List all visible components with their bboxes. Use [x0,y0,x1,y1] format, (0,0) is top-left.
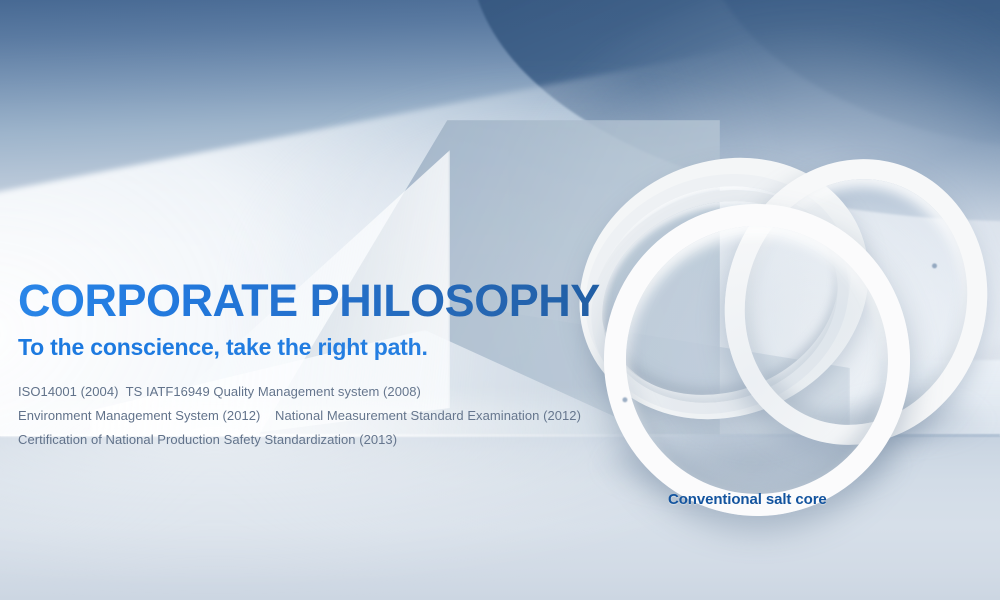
salt-core-rings-photo [560,140,980,500]
product-caption: Conventional salt core [668,491,827,508]
ring-pinhole-front [622,397,627,402]
corporate-philosophy-banner: CORPORATE PHILOSOPHY To the conscience, … [0,0,1000,600]
certification-list: ISO14001 (2004) TS IATF16949 Quality Man… [18,380,618,452]
certification-line-2: Environment Management System (2012) Nat… [18,404,618,428]
page-subtitle: To the conscience, take the right path. [18,333,618,361]
certification-line-3: Certification of National Production Saf… [18,428,618,452]
text-block: CORPORATE PHILOSOPHY To the conscience, … [18,276,618,452]
certification-line-1: ISO14001 (2004) TS IATF16949 Quality Man… [18,380,618,404]
page-title: CORPORATE PHILOSOPHY [18,276,618,326]
ring-pinhole-right [931,263,937,269]
